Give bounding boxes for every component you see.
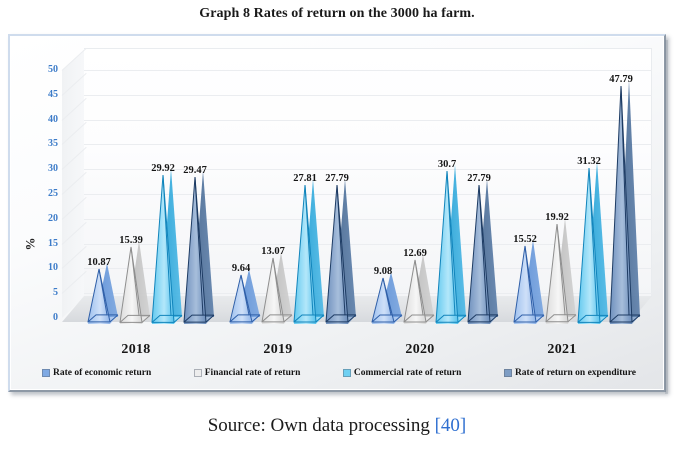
pyramid-shape (184, 178, 214, 324)
legend-swatch-icon (194, 369, 202, 377)
bar-2019-series3[interactable]: 27.81 (294, 186, 324, 324)
y-tick-35: 35 (32, 139, 58, 149)
bar-value-label: 10.87 (87, 257, 111, 268)
pyramid-edges (546, 225, 576, 324)
bar-2021-series1[interactable]: 15.52 (514, 247, 544, 324)
bar-group-2021: 15.5219.9231.3247.79 (514, 64, 656, 324)
pyramid-edges (468, 186, 498, 324)
y-tick-10: 10 (32, 263, 58, 273)
y-tick-40: 40 (32, 115, 58, 125)
y-axis-label: % (23, 238, 39, 251)
pyramid-edges (88, 270, 118, 324)
bar-value-label: 27.79 (325, 173, 349, 184)
source-reference[interactable]: [40] (435, 415, 467, 436)
bar-value-label: 47.79 (609, 74, 633, 85)
legend-swatch-icon (42, 369, 50, 377)
bar-value-label: 27.81 (293, 173, 317, 184)
pyramid-edges (152, 176, 182, 324)
legend-label: Rate of economic return (53, 368, 151, 378)
pyramid-shape (326, 186, 356, 324)
pyramid-shape (230, 276, 260, 324)
bar-2020-series1[interactable]: 9.08 (372, 279, 402, 324)
pyramid-edges (610, 87, 640, 324)
bar-2019-series1[interactable]: 9.64 (230, 276, 260, 324)
category-label-2020: 2020 (360, 342, 480, 358)
bar-value-label: 15.39 (119, 235, 143, 246)
plot-side-wall (62, 48, 86, 318)
category-label-2019: 2019 (218, 342, 338, 358)
pyramid-edges (514, 247, 544, 324)
legend-label: Rate of return on expenditure (515, 368, 636, 378)
chart-frame: 05101520253035404550 % 10.8715.3929.9229… (8, 34, 666, 392)
y-tick-5: 5 (32, 288, 58, 298)
bar-2018-series3[interactable]: 29.92 (152, 176, 182, 324)
bar-group-2018: 10.8715.3929.9229.47 (88, 64, 230, 324)
pyramid-edges (578, 169, 608, 324)
legend-item-3[interactable]: Commercial rate of return (343, 368, 462, 378)
legend-item-2[interactable]: Financial rate of return (194, 368, 301, 378)
bar-2020-series3[interactable]: 30.7 (436, 172, 466, 324)
pyramid-shape (120, 248, 150, 324)
bar-value-label: 13.07 (261, 246, 285, 257)
bar-value-label: 9.64 (232, 263, 250, 274)
category-label-2018: 2018 (76, 342, 196, 358)
bar-2019-series2[interactable]: 13.07 (262, 259, 292, 324)
y-tick-50: 50 (32, 65, 58, 75)
bar-2021-series2[interactable]: 19.92 (546, 225, 576, 324)
pyramid-shape (372, 279, 402, 324)
pyramid-edges (326, 186, 356, 324)
bar-value-label: 9.08 (374, 266, 392, 277)
pyramid-shape (152, 176, 182, 324)
pyramid-edges (294, 186, 324, 324)
pyramid-shape (262, 259, 292, 324)
chart-legend: Rate of economic returnFinancial rate of… (20, 368, 658, 378)
pyramid-shape (436, 172, 466, 324)
pyramid-shape (514, 247, 544, 324)
bar-2018-series4[interactable]: 29.47 (184, 178, 214, 324)
page-title: Graph 8 Rates of return on the 3000 ha f… (0, 6, 674, 22)
pyramid-edges (184, 178, 214, 324)
source-text: Source: Own data processing (208, 415, 430, 436)
bar-value-label: 19.92 (545, 212, 569, 223)
bar-2018-series2[interactable]: 15.39 (120, 248, 150, 324)
pyramid-shape (404, 261, 434, 324)
pyramid-edges (230, 276, 260, 324)
pyramid-shape (468, 186, 498, 324)
pyramid-edges (372, 279, 402, 324)
legend-item-1[interactable]: Rate of economic return (42, 368, 151, 378)
pyramid-edges (120, 248, 150, 324)
source-caption: Source: Own data processing [40] (0, 415, 674, 437)
bar-value-label: 15.52 (513, 234, 537, 245)
y-tick-20: 20 (32, 214, 58, 224)
pyramid-shape (88, 270, 118, 324)
pyramid-shape (610, 87, 640, 324)
legend-item-4[interactable]: Rate of return on expenditure (504, 368, 636, 378)
pyramid-shape (294, 186, 324, 324)
bar-2018-series1[interactable]: 10.87 (88, 270, 118, 324)
bar-value-label: 30.7 (438, 159, 456, 170)
legend-label: Financial rate of return (205, 368, 301, 378)
legend-label: Commercial rate of return (354, 368, 462, 378)
y-tick-45: 45 (32, 90, 58, 100)
y-tick-30: 30 (32, 164, 58, 174)
bar-2021-series4[interactable]: 47.79 (610, 87, 640, 324)
pyramid-shape (546, 225, 576, 324)
plot-area: 10.8715.3929.9229.479.6413.0727.8127.799… (62, 48, 652, 338)
pyramid-edges (262, 259, 292, 324)
bar-2019-series4[interactable]: 27.79 (326, 186, 356, 324)
bar-value-label: 31.32 (577, 156, 601, 167)
bar-value-label: 12.69 (403, 248, 427, 259)
pyramid-edges (436, 172, 466, 324)
legend-swatch-icon (504, 369, 512, 377)
pyramid-edges (404, 261, 434, 324)
bar-group-2019: 9.6413.0727.8127.79 (230, 64, 372, 324)
bar-2020-series4[interactable]: 27.79 (468, 186, 498, 324)
y-tick-0: 0 (32, 313, 58, 323)
bar-2020-series2[interactable]: 12.69 (404, 261, 434, 324)
category-label-2021: 2021 (502, 342, 622, 358)
pyramid-shape (578, 169, 608, 324)
y-tick-25: 25 (32, 189, 58, 199)
bar-value-label: 27.79 (467, 173, 491, 184)
bar-value-label: 29.47 (183, 165, 207, 176)
bar-2021-series3[interactable]: 31.32 (578, 169, 608, 324)
y-axis-ticks: 05101520253035404550 (26, 48, 58, 298)
bar-group-2020: 9.0812.6930.727.79 (372, 64, 514, 324)
legend-swatch-icon (343, 369, 351, 377)
bar-value-label: 29.92 (151, 163, 175, 174)
